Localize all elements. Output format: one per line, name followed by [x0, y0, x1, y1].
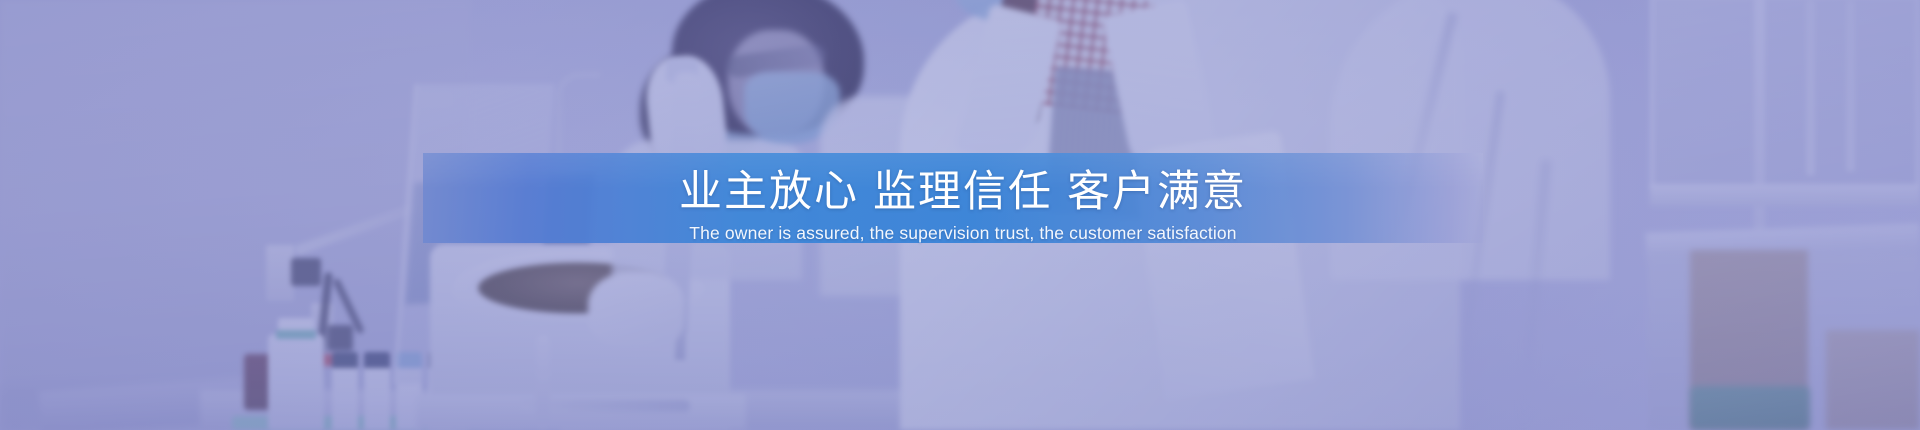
slogan-subline: The owner is assured, the supervision tr… [689, 223, 1236, 244]
hero-banner: 业主放心 监理信任 客户满意 The owner is assured, the… [0, 0, 1920, 430]
slogan-headline: 业主放心 监理信任 客户满意 [679, 168, 1247, 216]
slogan-block: 业主放心 监理信任 客户满意 The owner is assured, the… [423, 146, 1503, 266]
